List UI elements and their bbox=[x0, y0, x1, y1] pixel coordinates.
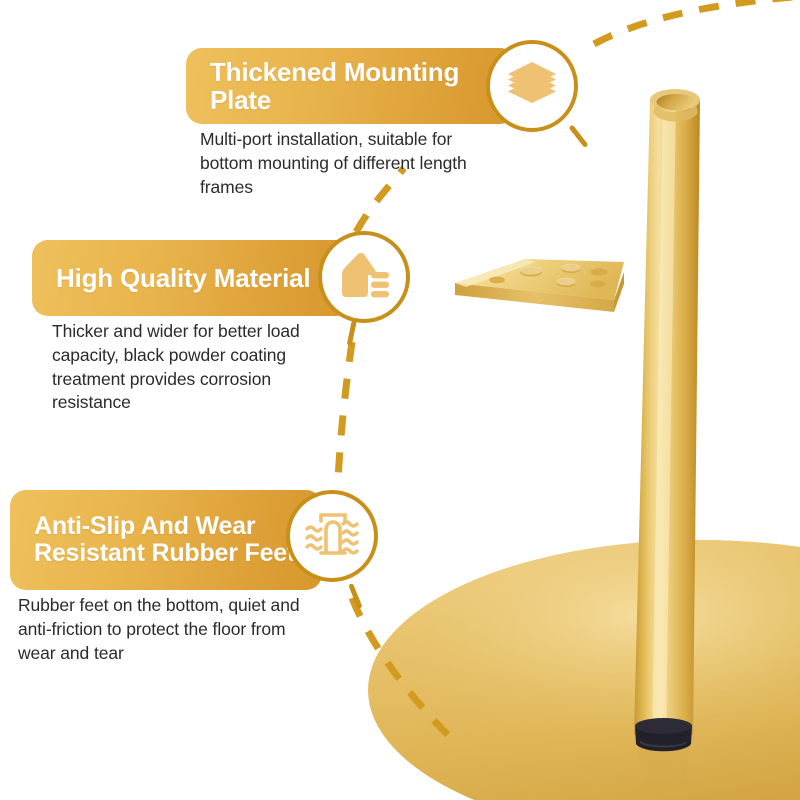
rubber-foot-waves-icon bbox=[303, 507, 361, 565]
feature-title: Thickened Mounting Plate bbox=[186, 58, 516, 114]
feature-icon-badge bbox=[286, 490, 378, 582]
hollow-tapered-leg bbox=[634, 89, 700, 735]
feature-title: High Quality Material bbox=[32, 264, 328, 292]
feature-title-pill: High Quality Material bbox=[32, 240, 352, 316]
feature-title: Anti-Slip And Wear Resistant Rubber Feet bbox=[10, 513, 322, 567]
feature-title-pill: Anti-Slip And Wear Resistant Rubber Feet bbox=[10, 490, 322, 590]
stacked-plates-icon bbox=[503, 57, 561, 115]
perforated-mounting-plate bbox=[455, 259, 624, 312]
infographic-canvas: Thickened Mounting Plate Multi-port inst… bbox=[0, 0, 800, 800]
feature-description: Multi-port installation, suitable for bo… bbox=[200, 128, 500, 199]
quality-triangle-icon bbox=[335, 248, 393, 306]
feature-title-pill: Thickened Mounting Plate bbox=[186, 48, 516, 124]
black-rubber-foot bbox=[635, 718, 692, 751]
gold-tabletop-surface bbox=[368, 540, 800, 800]
feature-description: Thicker and wider for better load capaci… bbox=[52, 320, 342, 415]
feature-description: Rubber feet on the bottom, quiet and ant… bbox=[18, 594, 308, 665]
feature-icon-badge bbox=[318, 231, 410, 323]
feature-icon-badge bbox=[486, 40, 578, 132]
